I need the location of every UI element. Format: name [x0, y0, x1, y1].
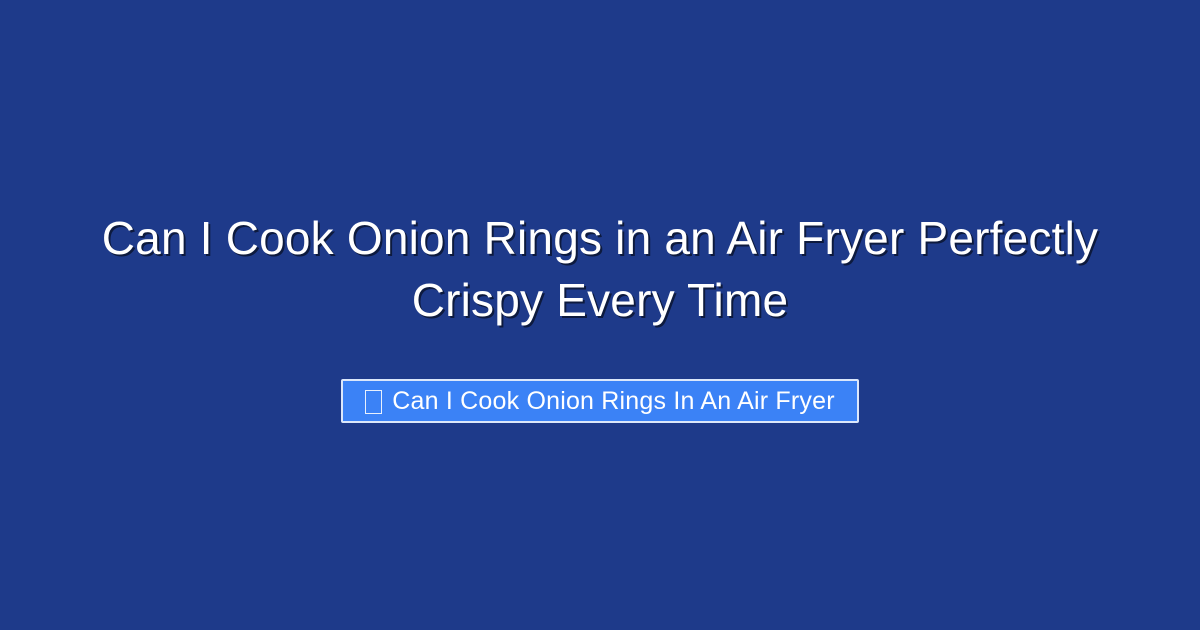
cta-button-label: Can I Cook Onion Rings In An Air Fryer	[392, 389, 835, 414]
cta-container: Can I Cook Onion Rings In An Air Fryer	[0, 379, 1200, 423]
social-share-card: Can I Cook Onion Rings in an Air Fryer P…	[0, 0, 1200, 630]
missing-glyph-box-icon	[365, 390, 382, 414]
cta-button[interactable]: Can I Cook Onion Rings In An Air Fryer	[341, 379, 859, 423]
card-content-stack: Can I Cook Onion Rings in an Air Fryer P…	[0, 0, 1200, 630]
page-title: Can I Cook Onion Rings in an Air Fryer P…	[80, 207, 1120, 331]
